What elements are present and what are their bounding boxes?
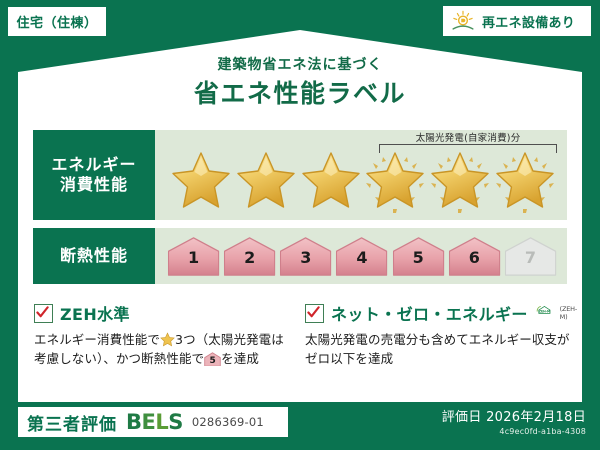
evaluation-date-value: 2026年2月18日 xyxy=(486,410,586,425)
house-level-value: 5 xyxy=(204,355,221,369)
insulation-level-number: 6 xyxy=(448,248,501,267)
bels-char-1: B xyxy=(126,410,142,434)
insulation-level-house: 7 xyxy=(504,236,557,278)
svg-text:ZEH-M: ZEH-M xyxy=(539,310,550,314)
insulation-level-house: 5 xyxy=(392,236,445,278)
renewable-badge-label: 再エネ設備あり xyxy=(482,12,575,31)
insulation-key-text: 断熱性能 xyxy=(60,246,128,266)
third-party-label: 第三者評価 xyxy=(27,410,117,435)
building-type-tag: 住宅（住棟） xyxy=(8,7,106,36)
insulation-level-house: 4 xyxy=(335,236,388,278)
net-zero-criterion-header: ネット・ゼロ・エネルギー ZEH-M (ZEH-M) xyxy=(305,302,577,324)
bels-char-3: L xyxy=(155,410,168,434)
zeh-body-part3: を達成 xyxy=(221,351,259,366)
label-subtitle: 建築物省エネ法に基づく xyxy=(0,54,600,74)
insulation-performance-label-key: 断熱性能 xyxy=(33,228,155,284)
insulation-level-house: 2 xyxy=(223,236,276,278)
insulation-level-number: 1 xyxy=(167,248,220,267)
bels-logo: BELS xyxy=(126,410,183,434)
page-title: 省エネ性能ラベル xyxy=(0,74,600,110)
house-level-icon: 5 xyxy=(204,352,221,367)
energy-performance-row: エネルギー 消費性能 太陽光発電(自家消費)分 xyxy=(33,130,567,220)
renewable-energy-badge: 再エネ設備あり xyxy=(443,6,591,36)
star-icon xyxy=(234,149,298,213)
star-icon xyxy=(493,149,557,213)
zeh-criterion-header: ZEH水準 xyxy=(34,302,292,324)
insulation-level-house: 1 xyxy=(167,236,220,278)
insulation-level-number: 4 xyxy=(335,248,388,267)
energy-key-line2: 消費性能 xyxy=(60,175,128,195)
document-id: 4c9ec0fd-a1ba-4308 xyxy=(442,427,586,436)
star-icon xyxy=(299,149,363,213)
zeh-checkbox[interactable] xyxy=(34,304,53,323)
evaluation-date: 評価日 2026年2月18日 xyxy=(442,406,586,425)
zeh-m-logo-icon: ZEH-M xyxy=(536,300,553,326)
bels-char-2: E xyxy=(142,410,156,434)
zeh-criterion-body: エネルギー消費性能で 3つ（太陽光発電は考慮しない）、かつ断熱性能で 5 を達成 xyxy=(34,330,292,369)
insulation-level-number: 5 xyxy=(392,248,445,267)
insulation-level-number: 7 xyxy=(504,248,557,267)
insulation-level-number: 3 xyxy=(279,248,332,267)
sun-solar-icon xyxy=(449,10,477,32)
energy-performance-value: 太陽光発電(自家消費)分 xyxy=(155,130,567,220)
zeh-criterion-title: ZEH水準 xyxy=(60,301,130,325)
certificate-number: 0286369-01 xyxy=(192,415,264,429)
star-icon xyxy=(169,149,233,213)
star-icon xyxy=(363,149,427,213)
zeh-m-logo-caption: (ZEH-M) xyxy=(560,305,577,321)
net-zero-criterion-body: 太陽光発電の売電分も含めてエネルギー収支がゼロ以下を達成 xyxy=(305,330,577,369)
zeh-body-part1: エネルギー消費性能で xyxy=(34,332,160,347)
net-zero-energy-criterion: ネット・ゼロ・エネルギー ZEH-M (ZEH-M) 太陽光発電の売電分も含めて… xyxy=(305,302,577,369)
evaluation-date-label: 評価日 xyxy=(442,410,482,425)
star-icon xyxy=(160,332,175,347)
net-zero-criterion-title: ネット・ゼロ・エネルギー xyxy=(331,301,528,325)
solar-bracket-caption: 太陽光発電(自家消費)分 xyxy=(377,130,559,144)
energy-key-line1: エネルギー xyxy=(51,155,136,175)
insulation-level-house: 3 xyxy=(279,236,332,278)
insulation-level-scale: 1234567 xyxy=(167,234,557,279)
insulation-performance-row: 断熱性能 1234567 xyxy=(33,228,567,284)
insulation-performance-value: 1234567 xyxy=(155,228,567,284)
insulation-level-house: 6 xyxy=(448,236,501,278)
evaluation-date-block: 評価日 2026年2月18日 4c9ec0fd-a1ba-4308 xyxy=(442,406,586,436)
star-icon xyxy=(428,149,492,213)
zeh-criterion: ZEH水準 エネルギー消費性能で 3つ（太陽光発電は考慮しない）、かつ断熱性能で… xyxy=(34,302,292,369)
net-zero-checkbox[interactable] xyxy=(305,304,324,323)
insulation-level-number: 2 xyxy=(223,248,276,267)
energy-performance-label: 住宅（住棟） 再エネ設備あり 建築物省エネ法に基づく 省エネ性能ラベル xyxy=(0,0,600,450)
third-party-evaluation-footer: 第三者評価 BELS 0286369-01 xyxy=(18,407,288,437)
bels-char-4: S xyxy=(168,410,183,434)
energy-performance-label-key: エネルギー 消費性能 xyxy=(33,130,155,220)
star-rating xyxy=(169,146,557,216)
